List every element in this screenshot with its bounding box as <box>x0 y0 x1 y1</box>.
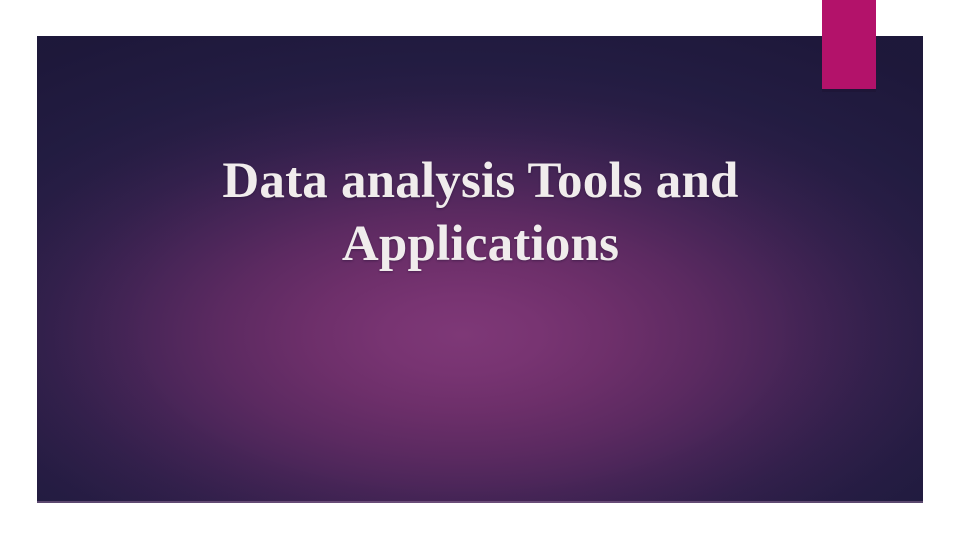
accent-bar-shadow <box>822 89 876 92</box>
accent-bar-magenta <box>822 0 876 89</box>
slide-title-line-2: Applications <box>60 213 901 276</box>
slide-title-line-1: Data analysis Tools and <box>60 150 901 213</box>
slide-title: Data analysis Tools and Applications <box>0 150 961 276</box>
slide-canvas: Data analysis Tools and Applications <box>0 0 961 540</box>
slide-bottom-edge-line <box>37 501 923 503</box>
